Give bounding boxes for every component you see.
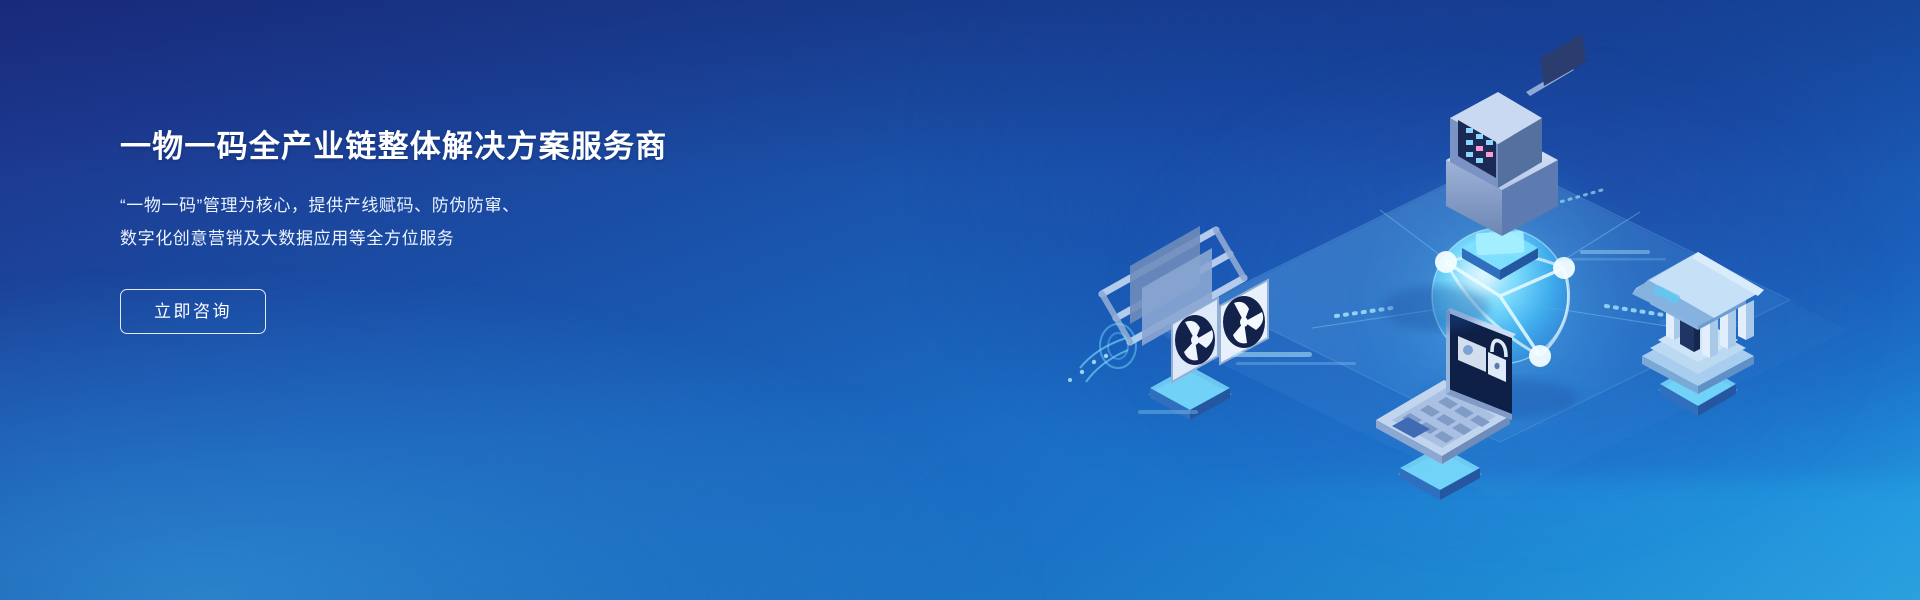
consult-now-button[interactable]: 立即咨询	[120, 289, 266, 334]
hero-subtitle: “一物一码”管理为核心，提供产线赋码、防伪防窜、 数字化创意营销及大数据应用等全…	[120, 189, 820, 255]
page-title: 一物一码全产业链整体解决方案服务商	[120, 128, 820, 167]
hero-subtitle-line-1: “一物一码”管理为核心，提供产线赋码、防伪防窜、	[120, 189, 820, 222]
hero-banner: 一物一码全产业链整体解决方案服务商 “一物一码”管理为核心，提供产线赋码、防伪防…	[0, 0, 1920, 600]
server-rack-icon	[1068, 226, 1268, 420]
hero-copy: 一物一码全产业链整体解决方案服务商 “一物一码”管理为核心，提供产线赋码、防伪防…	[120, 128, 820, 334]
hero-illustration	[880, 0, 1920, 600]
hero-subtitle-line-2: 数字化创意营销及大数据应用等全方位服务	[120, 222, 820, 255]
